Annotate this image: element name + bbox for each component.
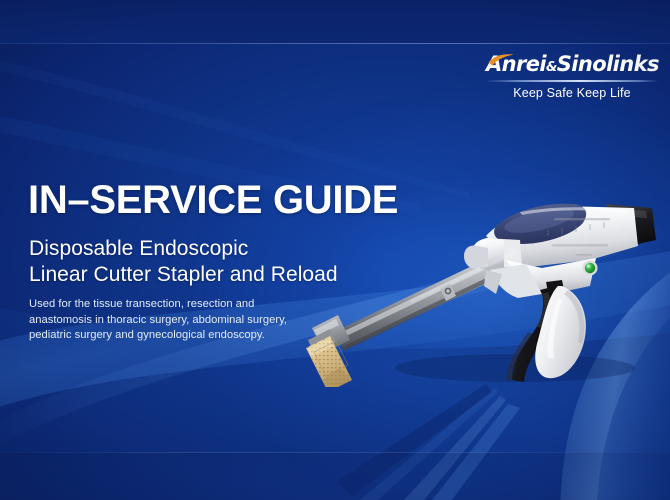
- product-description: Used for the tissue transection, resecti…: [29, 297, 287, 344]
- logo-ampersand: &: [546, 60, 557, 75]
- subtitle-line-2: Linear Cutter Stapler and Reload: [29, 262, 338, 288]
- cover-page: Anrei&Sinolinks Keep Safe Keep Life IN–S…: [0, 0, 670, 500]
- page-subtitle: Disposable Endoscopic Linear Cutter Stap…: [29, 236, 338, 288]
- description-line-2: anastomosis in thoracic surgery, abdomin…: [29, 313, 287, 329]
- subtitle-line-1: Disposable Endoscopic: [29, 236, 338, 262]
- description-line-1: Used for the tissue transection, resecti…: [29, 297, 287, 313]
- background-lower-divider: [0, 452, 670, 453]
- description-line-3: pediatric surgery and gynecological endo…: [29, 328, 287, 344]
- page-title: IN–SERVICE GUIDE: [28, 177, 398, 223]
- logo-wordmark: Anrei&Sinolinks: [486, 52, 658, 76]
- company-logo[interactable]: Anrei&Sinolinks Keep Safe Keep Life: [486, 52, 658, 100]
- logo-divider-rule: [486, 80, 658, 82]
- logo-text-sinolinks: Sinolinks: [557, 52, 659, 76]
- logo-text-anrei: Anrei: [486, 52, 546, 76]
- logo-tagline: Keep Safe Keep Life: [486, 84, 658, 100]
